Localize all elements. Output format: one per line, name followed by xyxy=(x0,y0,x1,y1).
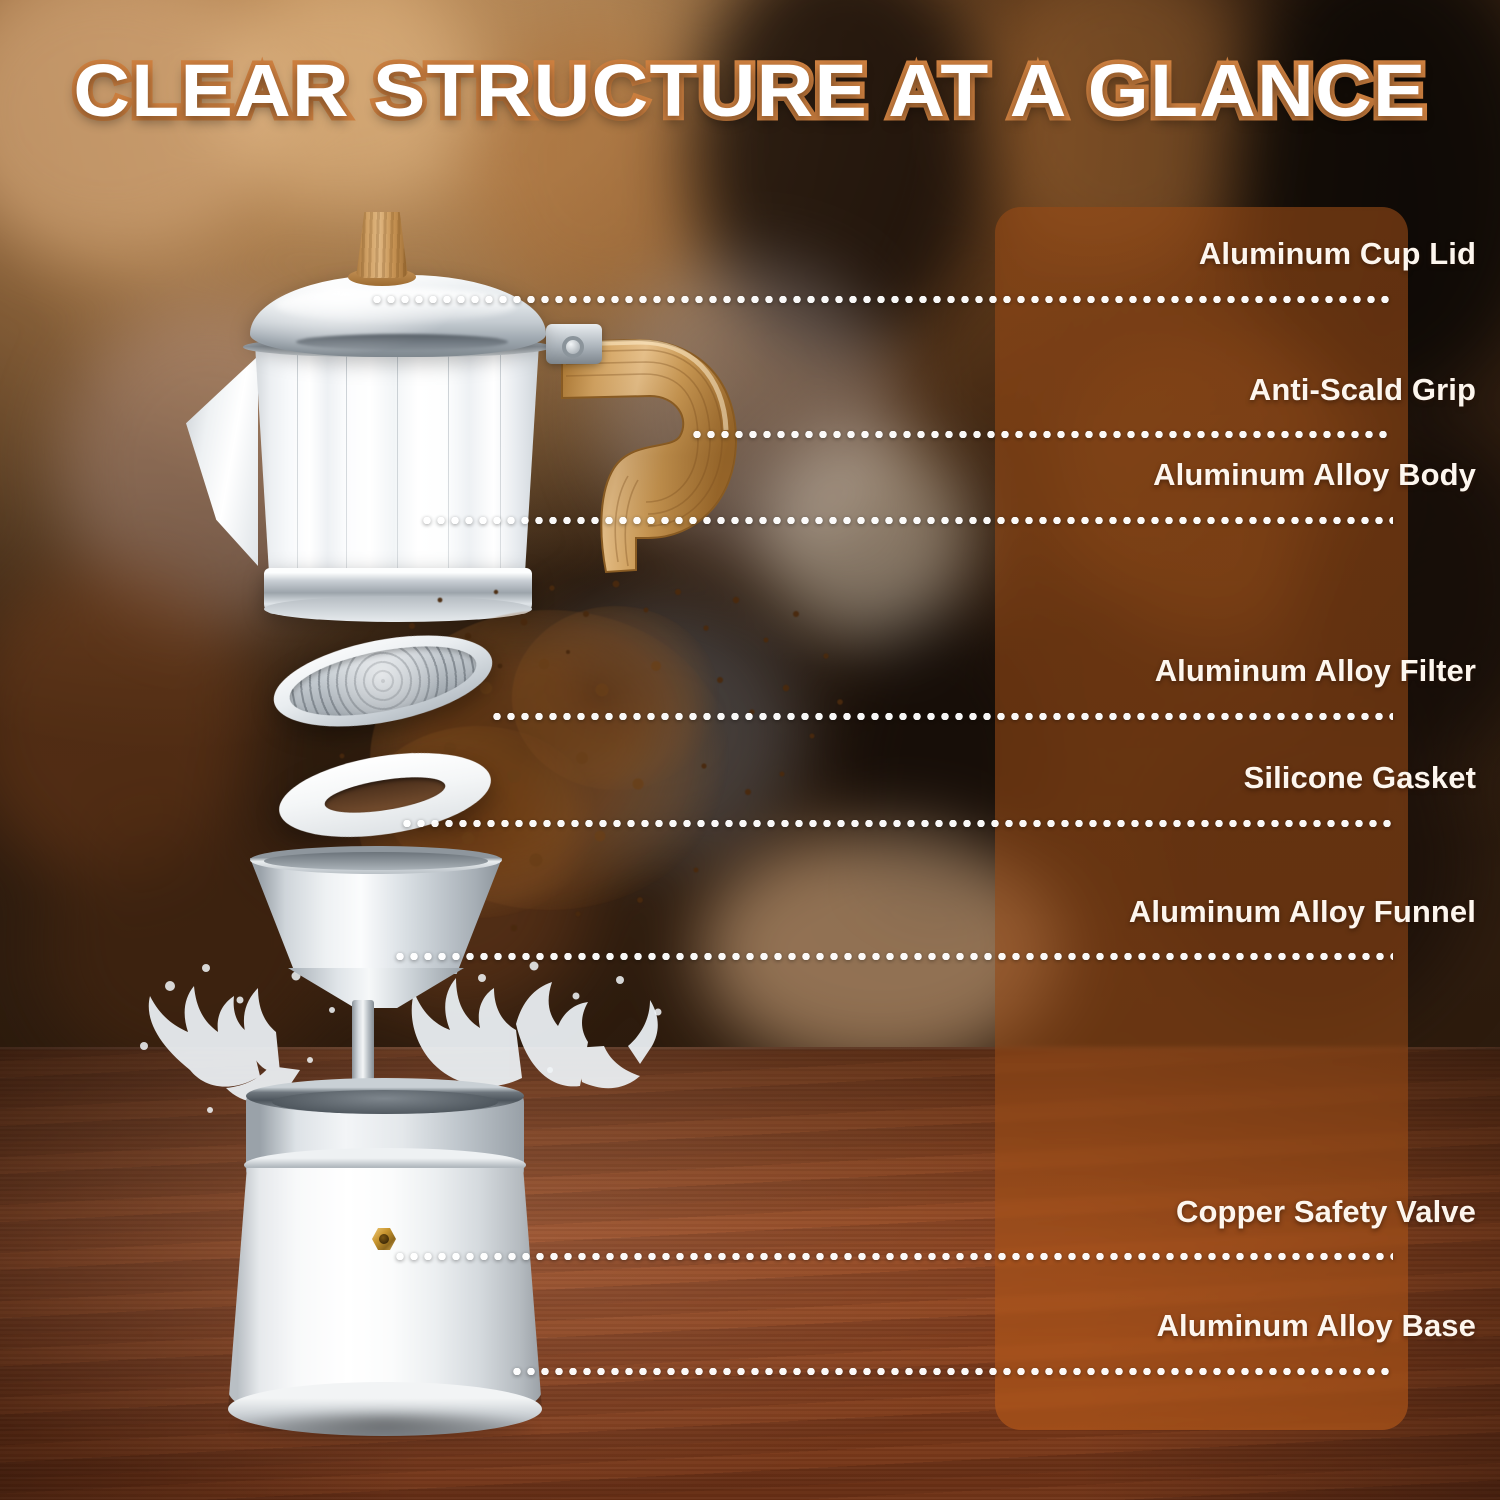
callout-label-silicone-gasket: Silicone Gasket xyxy=(1244,760,1476,796)
callout-label-aluminum-cup-lid: Aluminum Cup Lid xyxy=(1199,236,1476,272)
callout-label-aluminum-alloy-body: Aluminum Alloy Body xyxy=(1153,457,1476,493)
leader-line-aluminum-cup-lid xyxy=(370,296,1393,303)
wooden-lid-knob xyxy=(356,212,408,278)
gasket-opening xyxy=(322,771,447,820)
body-facet xyxy=(346,345,347,592)
callout-label-aluminum-alloy-base: Aluminum Alloy Base xyxy=(1157,1308,1476,1344)
body-facet xyxy=(448,345,449,592)
aluminum-alloy-body-part xyxy=(246,345,548,592)
safety-valve-hole xyxy=(379,1234,389,1244)
funnel-rim-inner xyxy=(264,852,488,870)
lid-shadow-band xyxy=(296,334,508,350)
leader-line-aluminum-alloy-body xyxy=(420,517,1393,524)
leader-line-anti-scald-grip xyxy=(690,431,1393,438)
callout-label-aluminum-alloy-filter: Aluminum Alloy Filter xyxy=(1155,653,1476,689)
infographic-stage: CLEAR STRUCTURE AT A GLANCE xyxy=(0,0,1500,1500)
leader-line-aluminum-alloy-funnel xyxy=(393,953,1393,960)
lid-highlight xyxy=(276,288,516,322)
lid-hinge-pin xyxy=(562,336,584,358)
body-facet xyxy=(397,345,398,592)
callout-label-aluminum-alloy-funnel: Aluminum Alloy Funnel xyxy=(1129,894,1476,930)
base-contact-shadow xyxy=(236,1414,534,1444)
leader-line-aluminum-alloy-filter xyxy=(490,713,1393,720)
body-facet xyxy=(297,345,298,592)
base-inner-cavity xyxy=(272,1090,498,1114)
leader-line-copper-safety-valve xyxy=(393,1253,1393,1260)
leader-line-aluminum-alloy-base xyxy=(510,1368,1393,1375)
body-facet xyxy=(500,345,501,592)
leader-line-silicone-gasket xyxy=(400,820,1393,827)
pot-spout xyxy=(186,356,258,566)
callout-label-anti-scald-grip: Anti-Scald Grip xyxy=(1249,372,1476,408)
moka-pot-illustration xyxy=(0,0,1000,1500)
callout-label-copper-safety-valve: Copper Safety Valve xyxy=(1176,1194,1476,1230)
